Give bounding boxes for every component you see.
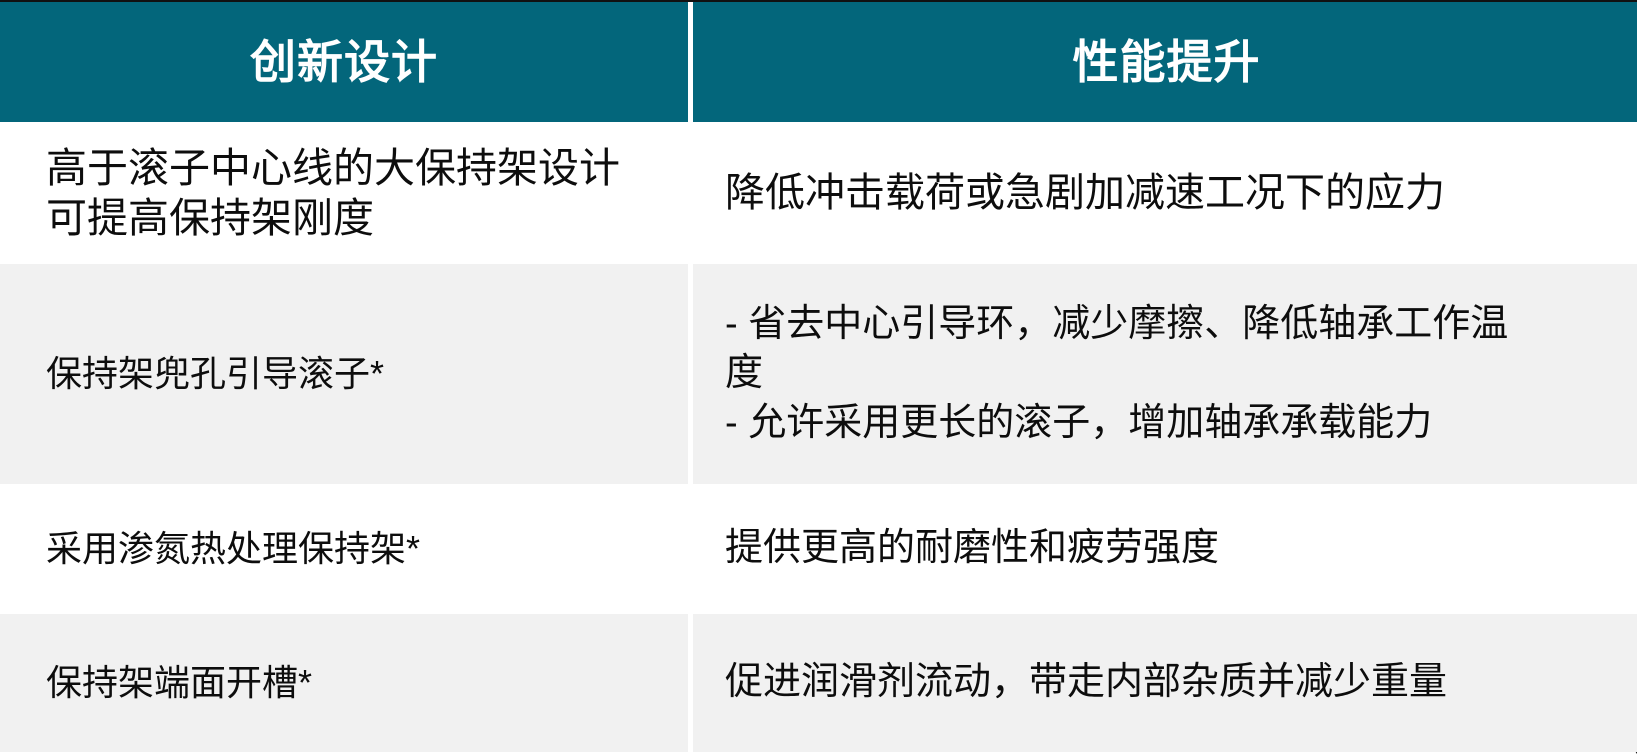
cell-design: 保持架兜孔引导滚子*	[0, 264, 688, 484]
cell-performance-text: 降低冲击载荷或急剧加减速工况下的应力	[725, 168, 1445, 218]
table-row: 保持架兜孔引导滚子* - 省去中心引导环，减少摩擦、降低轴承工作温 度 - 允许…	[0, 264, 1635, 484]
cell-performance-text: 促进润滑剂流动，带走内部杂质并减少重量	[725, 659, 1447, 707]
table-row: 采用渗氮热处理保持架* 提供更高的耐磨性和疲劳强度	[0, 484, 1635, 614]
table-row: 高于滚子中心线的大保持架设计 可提高保持架刚度 降低冲击载荷或急剧加减速工况下的…	[0, 122, 1635, 264]
cell-performance: 降低冲击载荷或急剧加减速工况下的应力	[693, 122, 1637, 264]
cell-design: 保持架端面开槽*	[0, 614, 688, 752]
cell-design-text: 采用渗氮热处理保持架*	[46, 526, 420, 571]
column-header-performance: 性能提升	[693, 2, 1637, 122]
cell-design-text: 高于滚子中心线的大保持架设计 可提高保持架刚度	[46, 143, 620, 243]
cell-performance: 促进润滑剂流动，带走内部杂质并减少重量	[693, 614, 1637, 752]
cell-design-text: 保持架端面开槽*	[46, 660, 312, 705]
cell-design: 采用渗氮热处理保持架*	[0, 484, 688, 614]
table-header-row: 创新设计 性能提升	[0, 2, 1635, 122]
cell-performance: - 省去中心引导环，减少摩擦、降低轴承工作温 度 - 允许采用更长的滚子，增加轴…	[693, 264, 1637, 484]
column-header-design-label: 创新设计	[250, 37, 438, 88]
cell-design: 高于滚子中心线的大保持架设计 可提高保持架刚度	[0, 122, 688, 264]
table-row: 保持架端面开槽* 促进润滑剂流动，带走内部杂质并减少重量	[0, 614, 1635, 752]
cell-performance: 提供更高的耐磨性和疲劳强度	[693, 484, 1637, 614]
column-header-design: 创新设计	[0, 2, 688, 122]
column-header-performance-label: 性能提升	[1073, 37, 1261, 88]
cell-design-text: 保持架兜孔引导滚子*	[46, 351, 384, 396]
cell-performance-text: - 省去中心引导环，减少摩擦、降低轴承工作温 度 - 允许采用更长的滚子，增加轴…	[725, 300, 1508, 448]
comparison-table: 创新设计 性能提升 高于滚子中心线的大保持架设计 可提高保持架刚度 降低冲击载荷…	[0, 0, 1637, 754]
cell-performance-text: 提供更高的耐磨性和疲劳强度	[725, 525, 1219, 573]
